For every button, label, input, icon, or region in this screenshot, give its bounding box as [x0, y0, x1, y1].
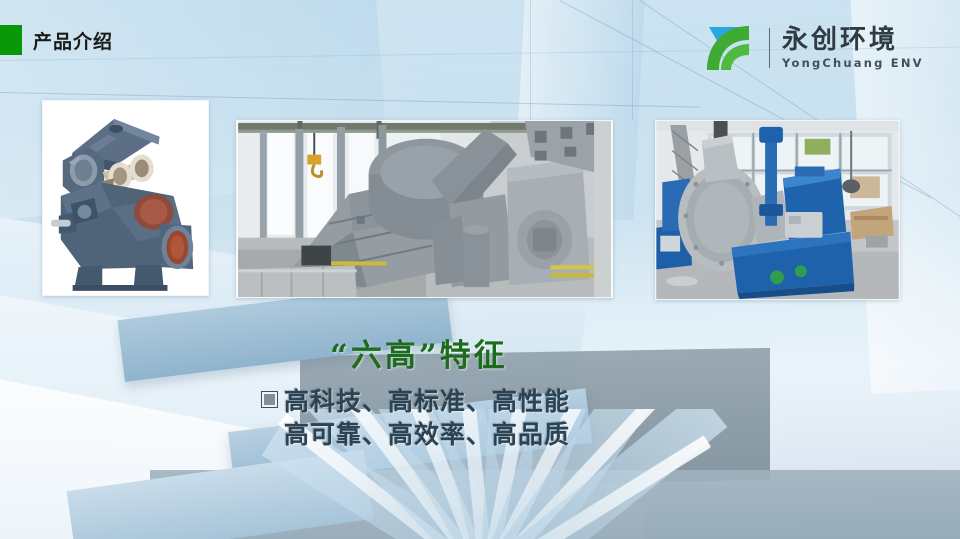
logo-name-en: YongChuang ENV	[782, 56, 924, 70]
feature-text-1: 高科技、高标准、高性能	[284, 385, 570, 418]
yongchuang-leaf-swoosh-logo	[705, 24, 761, 72]
brand-logo: 永创环境 YongChuang ENV	[705, 22, 924, 74]
square-bullet-icon	[262, 392, 277, 407]
section-heading: “六高”特征	[330, 330, 630, 375]
logo-divider	[769, 28, 770, 68]
feature-list-item-2: 高可靠、高效率、高品质	[262, 418, 682, 451]
green-square-marker	[0, 25, 22, 55]
feature-list: 高科技、高标准、高性能 高可靠、高效率、高品质	[262, 385, 682, 451]
photo-blue-pump-unit-workshop[interactable]	[655, 120, 900, 300]
bg-line-5	[530, 0, 531, 120]
feature-text-2: 高可靠、高效率、高品质	[284, 418, 570, 451]
photo-industrial-plant-installation[interactable]	[236, 120, 613, 298]
logo-name-cn: 永创环境	[782, 27, 924, 53]
page-title: 产品介绍	[33, 27, 113, 54]
photo-split-case-pump-cutaway[interactable]	[42, 100, 209, 296]
slide-canvas: 产品介绍 永创环境 YongChuang ENV	[0, 0, 960, 539]
feature-list-item-1: 高科技、高标准、高性能	[262, 385, 682, 418]
bg-line-6	[632, 0, 633, 120]
